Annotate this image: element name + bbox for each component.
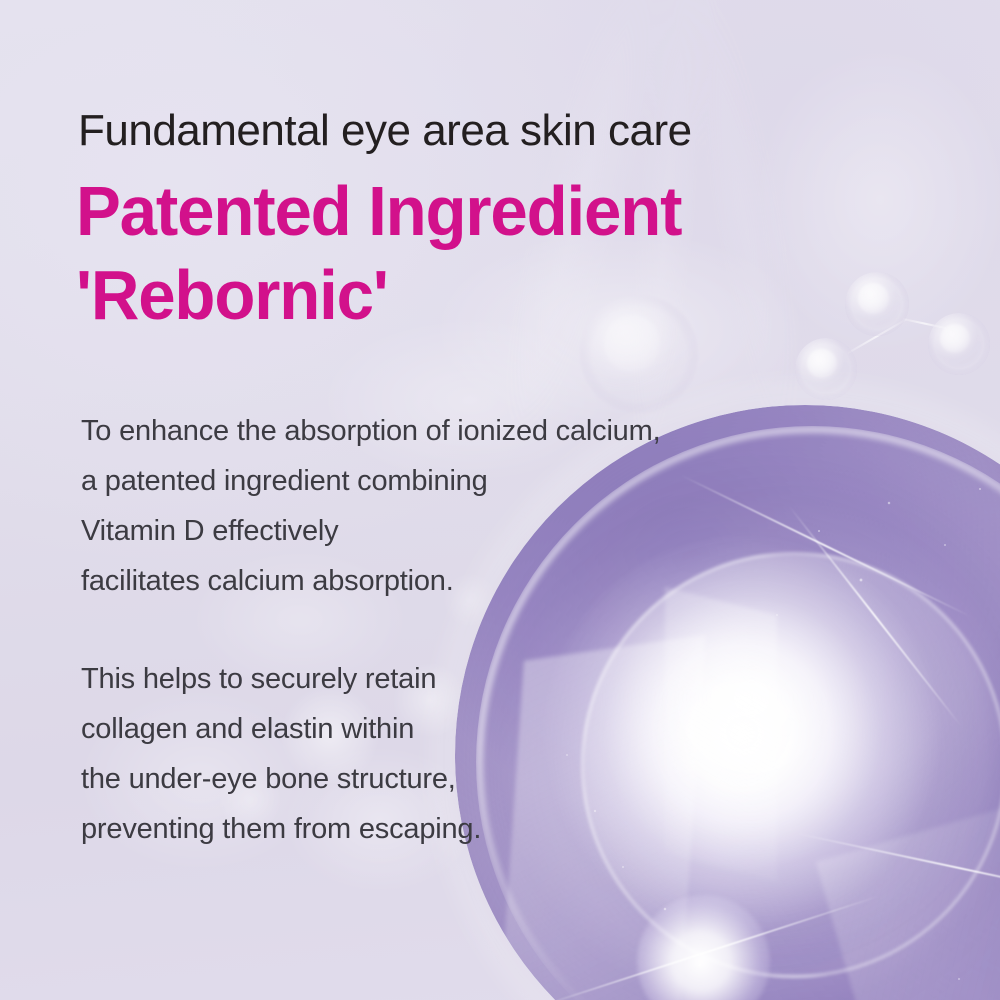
paragraph-2-line-4: preventing them from escaping. <box>81 804 721 854</box>
body-copy: To enhance the absorption of ionized cal… <box>81 406 721 854</box>
paragraph-1-line-1: To enhance the absorption of ionized cal… <box>81 406 721 456</box>
paragraph-spacer <box>81 606 721 654</box>
paragraph-2-line-2: collagen and elastin within <box>81 704 721 754</box>
paragraph-2-line-1: This helps to securely retain <box>81 654 721 704</box>
paragraph-1: To enhance the absorption of ionized cal… <box>81 406 721 606</box>
product-ingredient-poster: Fundamental eye area skin care Patented … <box>0 0 1000 1000</box>
paragraph-1-line-2: a patented ingredient combining <box>81 456 721 506</box>
paragraph-1-line-3: Vitamin D effectively <box>81 506 721 556</box>
paragraph-2: This helps to securely retain collagen a… <box>81 654 721 854</box>
headline-line-1: Patented Ingredient <box>76 176 902 246</box>
headline: Patented Ingredient 'Rebornic' <box>76 176 902 330</box>
paragraph-1-line-4: facilitates calcium absorption. <box>81 556 721 606</box>
eyebrow-heading: Fundamental eye area skin care <box>78 108 692 154</box>
text-content: Fundamental eye area skin care Patented … <box>0 0 1000 1000</box>
paragraph-2-line-3: the under-eye bone structure, <box>81 754 721 804</box>
headline-line-2: 'Rebornic' <box>76 260 902 330</box>
